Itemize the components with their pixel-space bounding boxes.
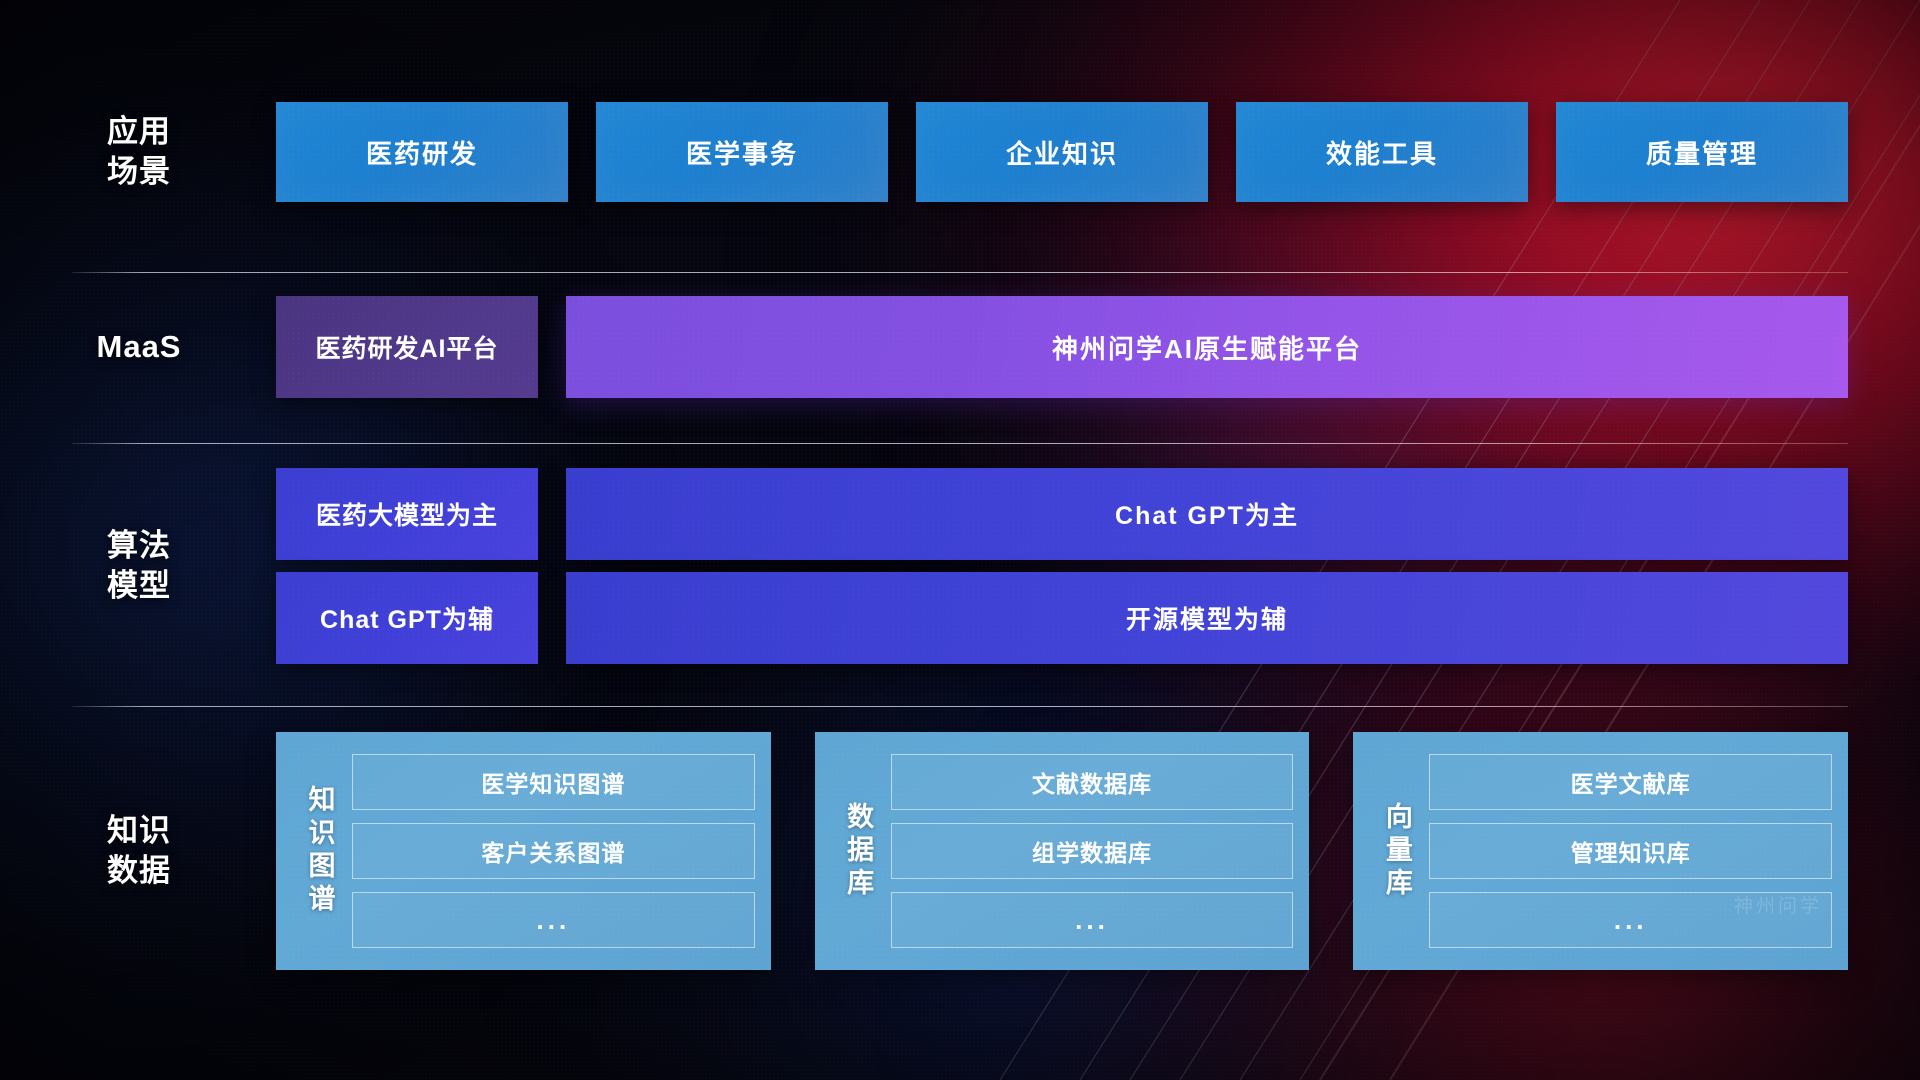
app-card-label: 质量管理 [1646,134,1758,171]
maas-cards: 医药研发AI平台 神州问学AI原生赋能平台 [206,296,1848,398]
knowledge-item-medical-literature-store[interactable]: 医学文献库 [1429,754,1832,810]
model-card-pharma-llm-primary[interactable]: 医药大模型为主 [276,468,538,560]
knowledge-item-medical-knowledge-graph[interactable]: 医学知识图谱 [352,754,755,810]
knowledge-item-more[interactable]: ... [891,892,1294,948]
row-knowledge-data: 知识 数据 知识图谱 医学知识图谱 客户关系图谱 ... 数据库 文献数据库 组… [72,732,1848,970]
row-label-algorithm-models: 算法 模型 [72,526,206,605]
algorithm-model-cards: 医药大模型为主 Chat GPT为主 Chat GPT为辅 开源模型为辅 [206,468,1848,664]
architecture-diagram: 应用 场景 医药研发 医学事务 企业知识 效能工具 质量管理 MaaS 医药研发… [0,0,1920,1080]
knowledge-panel-vertical-label: 向量库 [1363,746,1429,956]
knowledge-item-customer-relation-graph[interactable]: 客户关系图谱 [352,823,755,879]
knowledge-panel-items: 医学知识图谱 客户关系图谱 ... [352,746,755,956]
watermark-text: 神州问学 [1734,891,1822,918]
knowledge-panel-items: 文献数据库 组学数据库 ... [891,746,1294,956]
app-card-label: 企业知识 [1006,134,1118,171]
divider-apps-maas [72,272,1848,273]
app-card-label: 效能工具 [1326,134,1438,171]
row-label-application-scenarios: 应用 场景 [72,112,206,191]
model-card-label: Chat GPT为辅 [320,600,494,636]
maas-card-drug-rd-ai-platform[interactable]: 医药研发AI平台 [276,296,538,398]
knowledge-panel-vertical-label: 数据库 [825,746,891,956]
row-algorithm-models: 算法 模型 医药大模型为主 Chat GPT为主 Chat GPT为辅 开源模型… [72,468,1848,664]
knowledge-item-literature-database[interactable]: 文献数据库 [891,754,1294,810]
app-card-drug-rd[interactable]: 医药研发 [276,102,568,202]
knowledge-panel-knowledge-graph[interactable]: 知识图谱 医学知识图谱 客户关系图谱 ... [276,732,771,970]
app-card-efficiency-tools[interactable]: 效能工具 [1236,102,1528,202]
app-card-label: 医药研发 [366,134,478,171]
model-line-secondary: Chat GPT为辅 开源模型为辅 [276,572,1848,664]
divider-models-knowledge [72,706,1848,707]
app-card-enterprise-knowledge[interactable]: 企业知识 [916,102,1208,202]
maas-card-shenzhou-wenxue-platform[interactable]: 神州问学AI原生赋能平台 [566,296,1848,398]
app-card-medical-affairs[interactable]: 医学事务 [596,102,888,202]
model-line-primary: 医药大模型为主 Chat GPT为主 [276,468,1848,560]
model-card-label: 医药大模型为主 [316,496,498,532]
row-label-maas: MaaS [72,327,206,367]
knowledge-panel-vector-store[interactable]: 向量库 医学文献库 管理知识库 ... 神州问学 [1353,732,1848,970]
model-card-label: 开源模型为辅 [1126,600,1288,636]
knowledge-data-panels: 知识图谱 医学知识图谱 客户关系图谱 ... 数据库 文献数据库 组学数据库 .… [206,732,1848,970]
row-maas: MaaS 医药研发AI平台 神州问学AI原生赋能平台 [72,296,1848,398]
application-scenario-cards: 医药研发 医学事务 企业知识 效能工具 质量管理 [206,102,1848,202]
knowledge-item-more[interactable]: ... [352,892,755,948]
model-card-chatgpt-primary[interactable]: Chat GPT为主 [566,468,1848,560]
app-card-quality-management[interactable]: 质量管理 [1556,102,1848,202]
app-card-label: 医学事务 [686,134,798,171]
model-card-chatgpt-secondary[interactable]: Chat GPT为辅 [276,572,538,664]
row-application-scenarios: 应用 场景 医药研发 医学事务 企业知识 效能工具 质量管理 [72,102,1848,202]
knowledge-panel-items: 医学文献库 管理知识库 ... [1429,746,1832,956]
knowledge-panel-vertical-label: 知识图谱 [286,746,352,956]
knowledge-panel-database[interactable]: 数据库 文献数据库 组学数据库 ... [815,732,1310,970]
row-label-knowledge-data: 知识 数据 [72,811,206,890]
knowledge-item-omics-database[interactable]: 组学数据库 [891,823,1294,879]
maas-card-label: 神州问学AI原生赋能平台 [1052,329,1362,366]
model-card-label: Chat GPT为主 [1115,496,1299,532]
knowledge-item-management-knowledge-store[interactable]: 管理知识库 [1429,823,1832,879]
maas-card-label: 医药研发AI平台 [315,329,498,365]
divider-maas-models [72,443,1848,444]
model-card-opensource-secondary[interactable]: 开源模型为辅 [566,572,1848,664]
